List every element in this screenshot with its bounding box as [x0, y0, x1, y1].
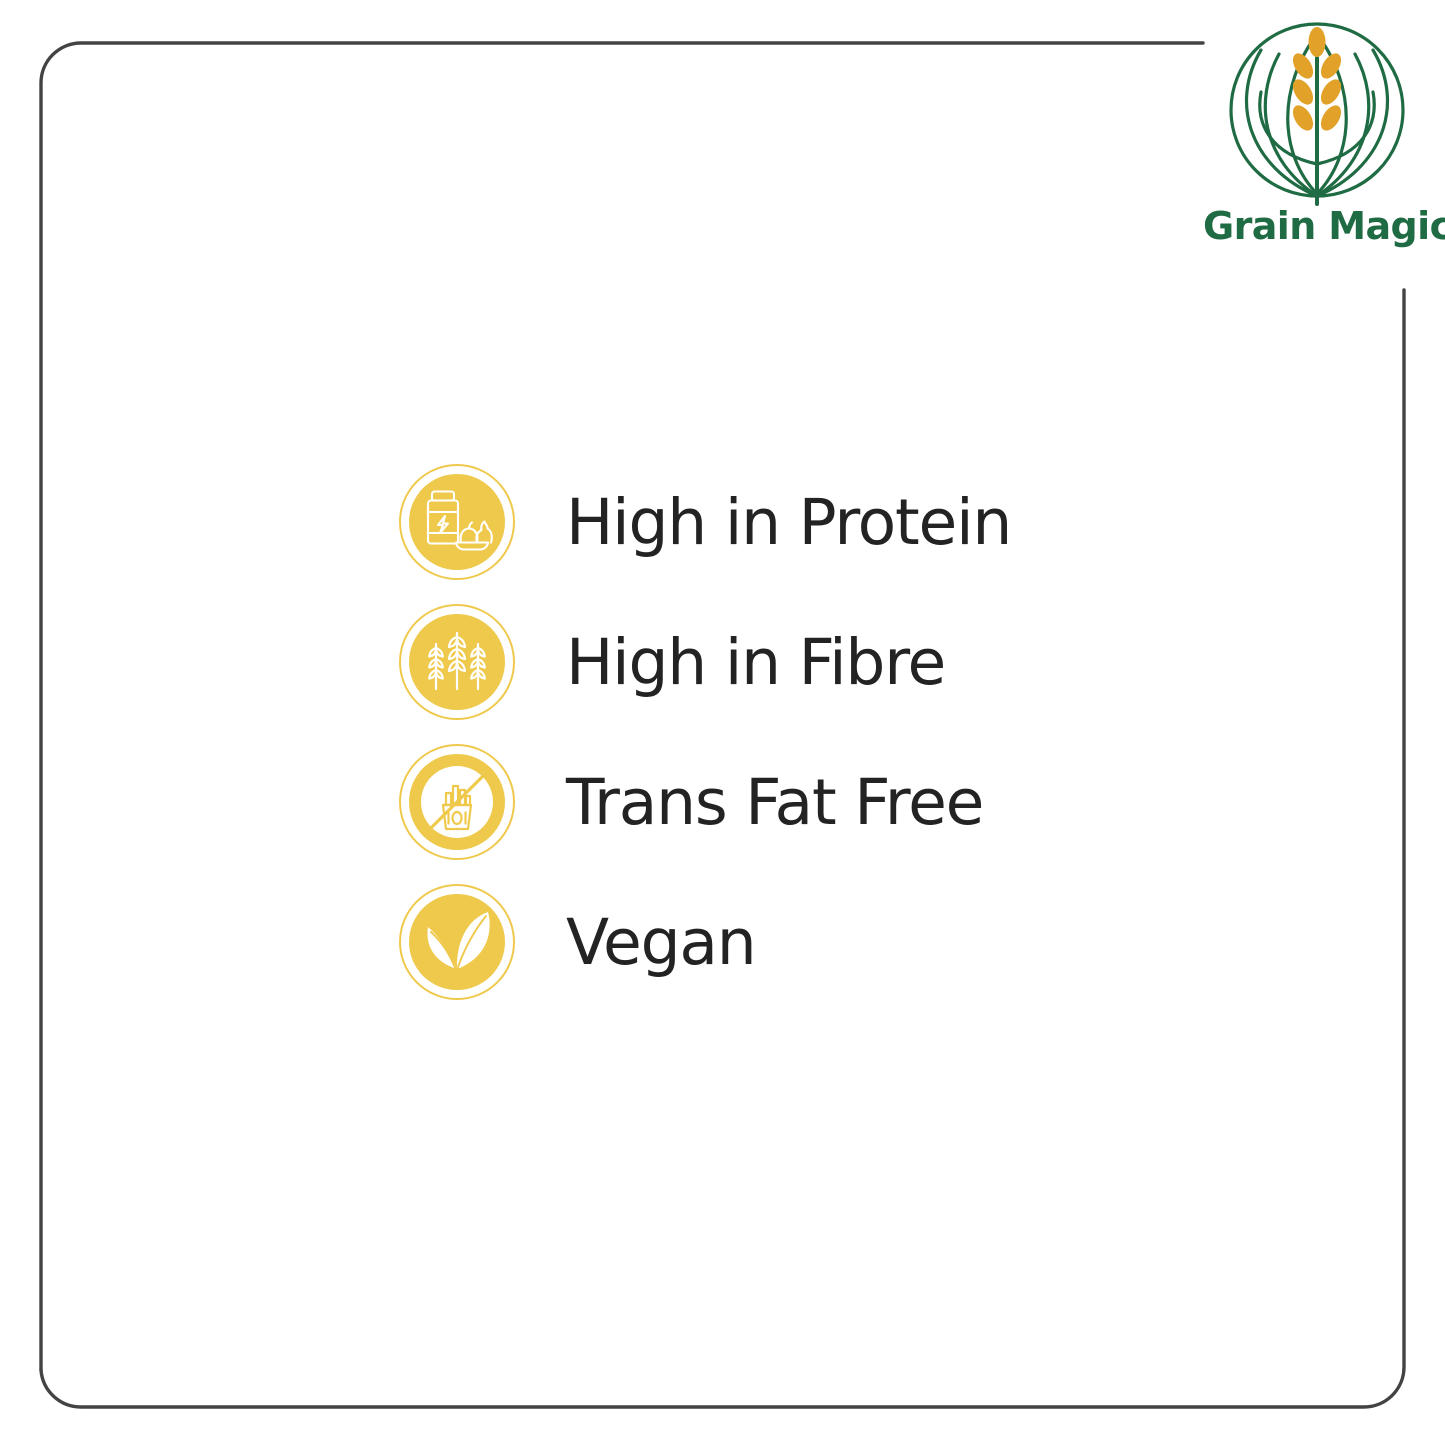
no-fries-prohibition-icon: [398, 743, 516, 861]
benefit-label: Trans Fat Free: [566, 771, 983, 834]
benefit-label: Vegan: [566, 911, 756, 974]
brand-logo: Grain Magic: [1203, 18, 1431, 258]
benefit-item-high-in-fibre: High in Fibre: [398, 592, 1158, 732]
benefit-item-high-in-protein: High in Protein: [398, 452, 1158, 592]
benefit-label: High in Fibre: [566, 631, 945, 694]
wheat-stalks-icon: [398, 603, 516, 721]
product-benefits-card: Grain Magic: [0, 0, 1445, 1445]
wheat-leaf-circle-logo-icon: [1217, 18, 1417, 206]
benefit-item-vegan: Vegan: [398, 872, 1158, 1012]
two-leaves-icon: [398, 883, 516, 1001]
benefits-list: High in Protein: [398, 452, 1158, 1012]
benefit-label: High in Protein: [566, 491, 1011, 554]
protein-supplement-jar-icon: [398, 463, 516, 581]
benefit-item-trans-fat-free: Trans Fat Free: [398, 732, 1158, 872]
brand-wordmark: Grain Magic: [1203, 204, 1431, 248]
